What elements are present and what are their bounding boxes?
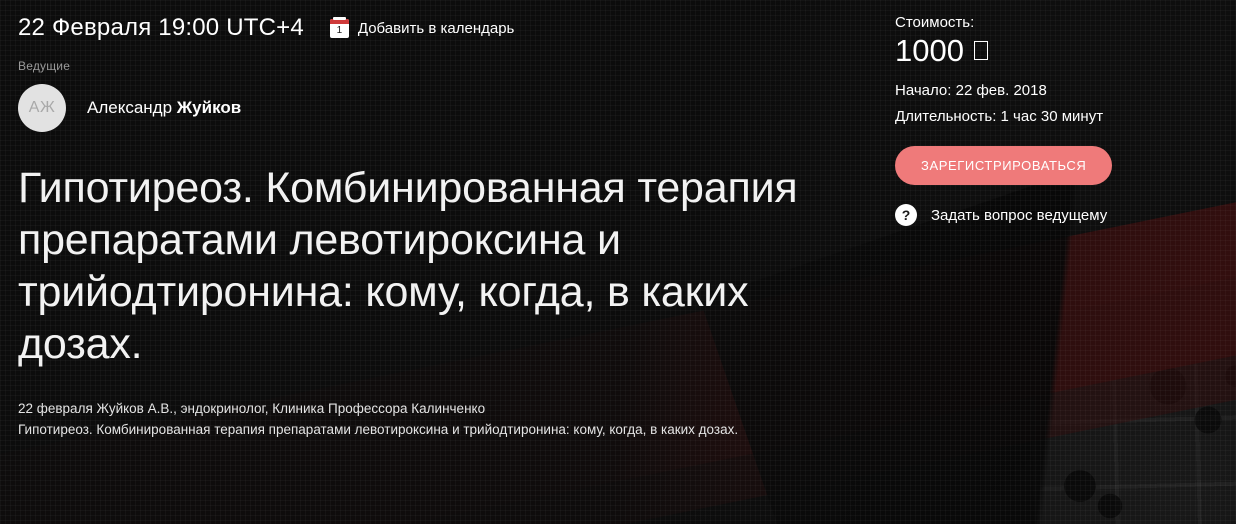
- avatar: АЖ: [18, 84, 66, 132]
- hosts-section-label: Ведущие: [18, 59, 878, 73]
- add-to-calendar-button[interactable]: 1 Добавить в календарь: [330, 19, 514, 38]
- page-title: Гипотиреоз. Комбинированная терапия преп…: [18, 162, 878, 370]
- ask-question-button[interactable]: ? Задать вопрос ведущему: [895, 204, 1225, 226]
- price-label: Стоимость:: [895, 14, 1225, 31]
- webinar-hero-page: 22 Февраля 19:00 UTC+4 1 Добавить в кале…: [0, 0, 1236, 524]
- register-button[interactable]: ЗАРЕГИСТРИРОВАТЬСЯ: [895, 146, 1112, 185]
- host-list-item[interactable]: АЖ Александр Жуйков: [18, 84, 878, 132]
- start-date-line: Начало: 22 фев. 2018: [895, 82, 1225, 99]
- calendar-icon: 1: [330, 19, 349, 38]
- hero-content: 22 Февраля 19:00 UTC+4 1 Добавить в кале…: [0, 0, 1236, 524]
- host-last-name: Жуйков: [177, 98, 241, 117]
- duration-line: Длительность: 1 час 30 минут: [895, 108, 1225, 125]
- price-value-row: 1000: [895, 32, 1225, 69]
- question-mark-icon: ?: [895, 204, 917, 226]
- calendar-day-number: 1: [330, 24, 349, 38]
- datetime-row: 22 Февраля 19:00 UTC+4 1 Добавить в кале…: [18, 0, 878, 42]
- currency-missing-glyph-icon: [974, 41, 988, 60]
- add-to-calendar-label: Добавить в календарь: [358, 20, 514, 37]
- host-first-name: Александр: [87, 98, 172, 117]
- registration-panel: Стоимость: 1000 Начало: 22 фев. 2018 Дли…: [895, 14, 1225, 226]
- ask-question-label: Задать вопрос ведущему: [931, 207, 1107, 224]
- host-name: Александр Жуйков: [87, 98, 241, 118]
- event-datetime: 22 Февраля 19:00 UTC+4: [18, 14, 304, 42]
- price-amount: 1000: [895, 32, 964, 69]
- event-info-column: 22 Февраля 19:00 UTC+4 1 Добавить в кале…: [18, 0, 878, 441]
- event-description: 22 февраля Жуйков А.В., эндокринолог, Кл…: [18, 399, 848, 441]
